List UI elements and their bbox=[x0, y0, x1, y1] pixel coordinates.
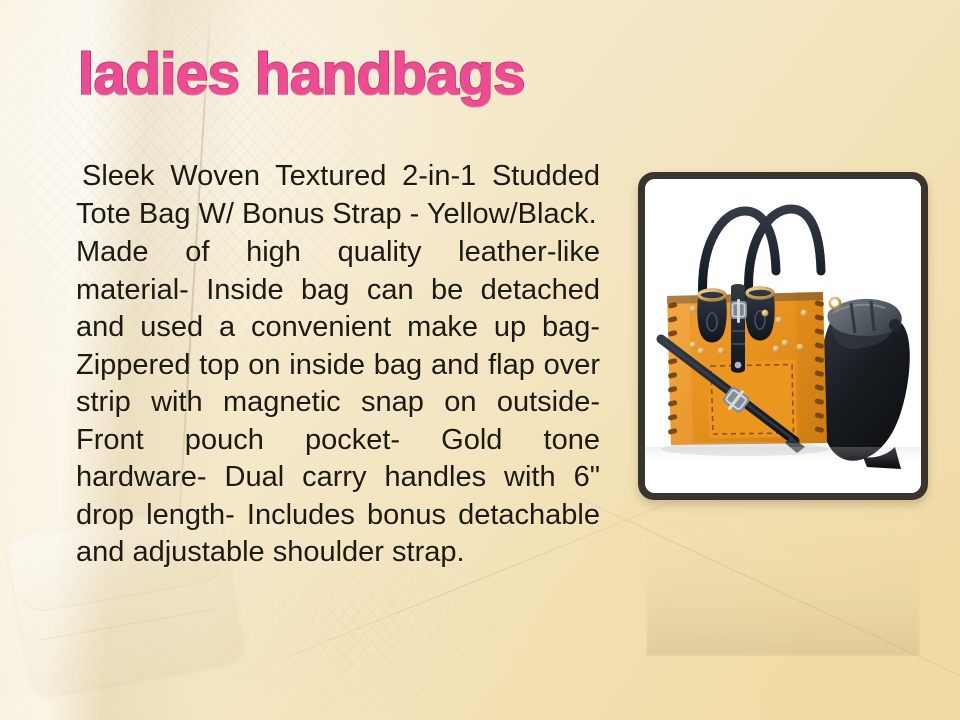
center-flap-strip bbox=[730, 284, 747, 373]
description-text-block: Sleek Woven Textured 2-in-1 Studded Tote… bbox=[76, 158, 600, 572]
page-title: ladies handbags bbox=[78, 46, 525, 104]
product-image-inner bbox=[645, 179, 921, 493]
product-image-frame bbox=[638, 172, 928, 500]
product-name-paragraph: Sleek Woven Textured 2-in-1 Studded Tote… bbox=[76, 158, 600, 233]
slide-canvas: ladies handbags Sleek Woven Textured 2-i… bbox=[0, 0, 960, 720]
front-pouch-pocket bbox=[707, 360, 797, 438]
image-frame-reflection bbox=[646, 506, 920, 656]
clutch-seam bbox=[40, 608, 220, 641]
handbag-photo bbox=[645, 179, 921, 493]
product-details-paragraph: Made of high quality leather-like materi… bbox=[76, 234, 600, 572]
